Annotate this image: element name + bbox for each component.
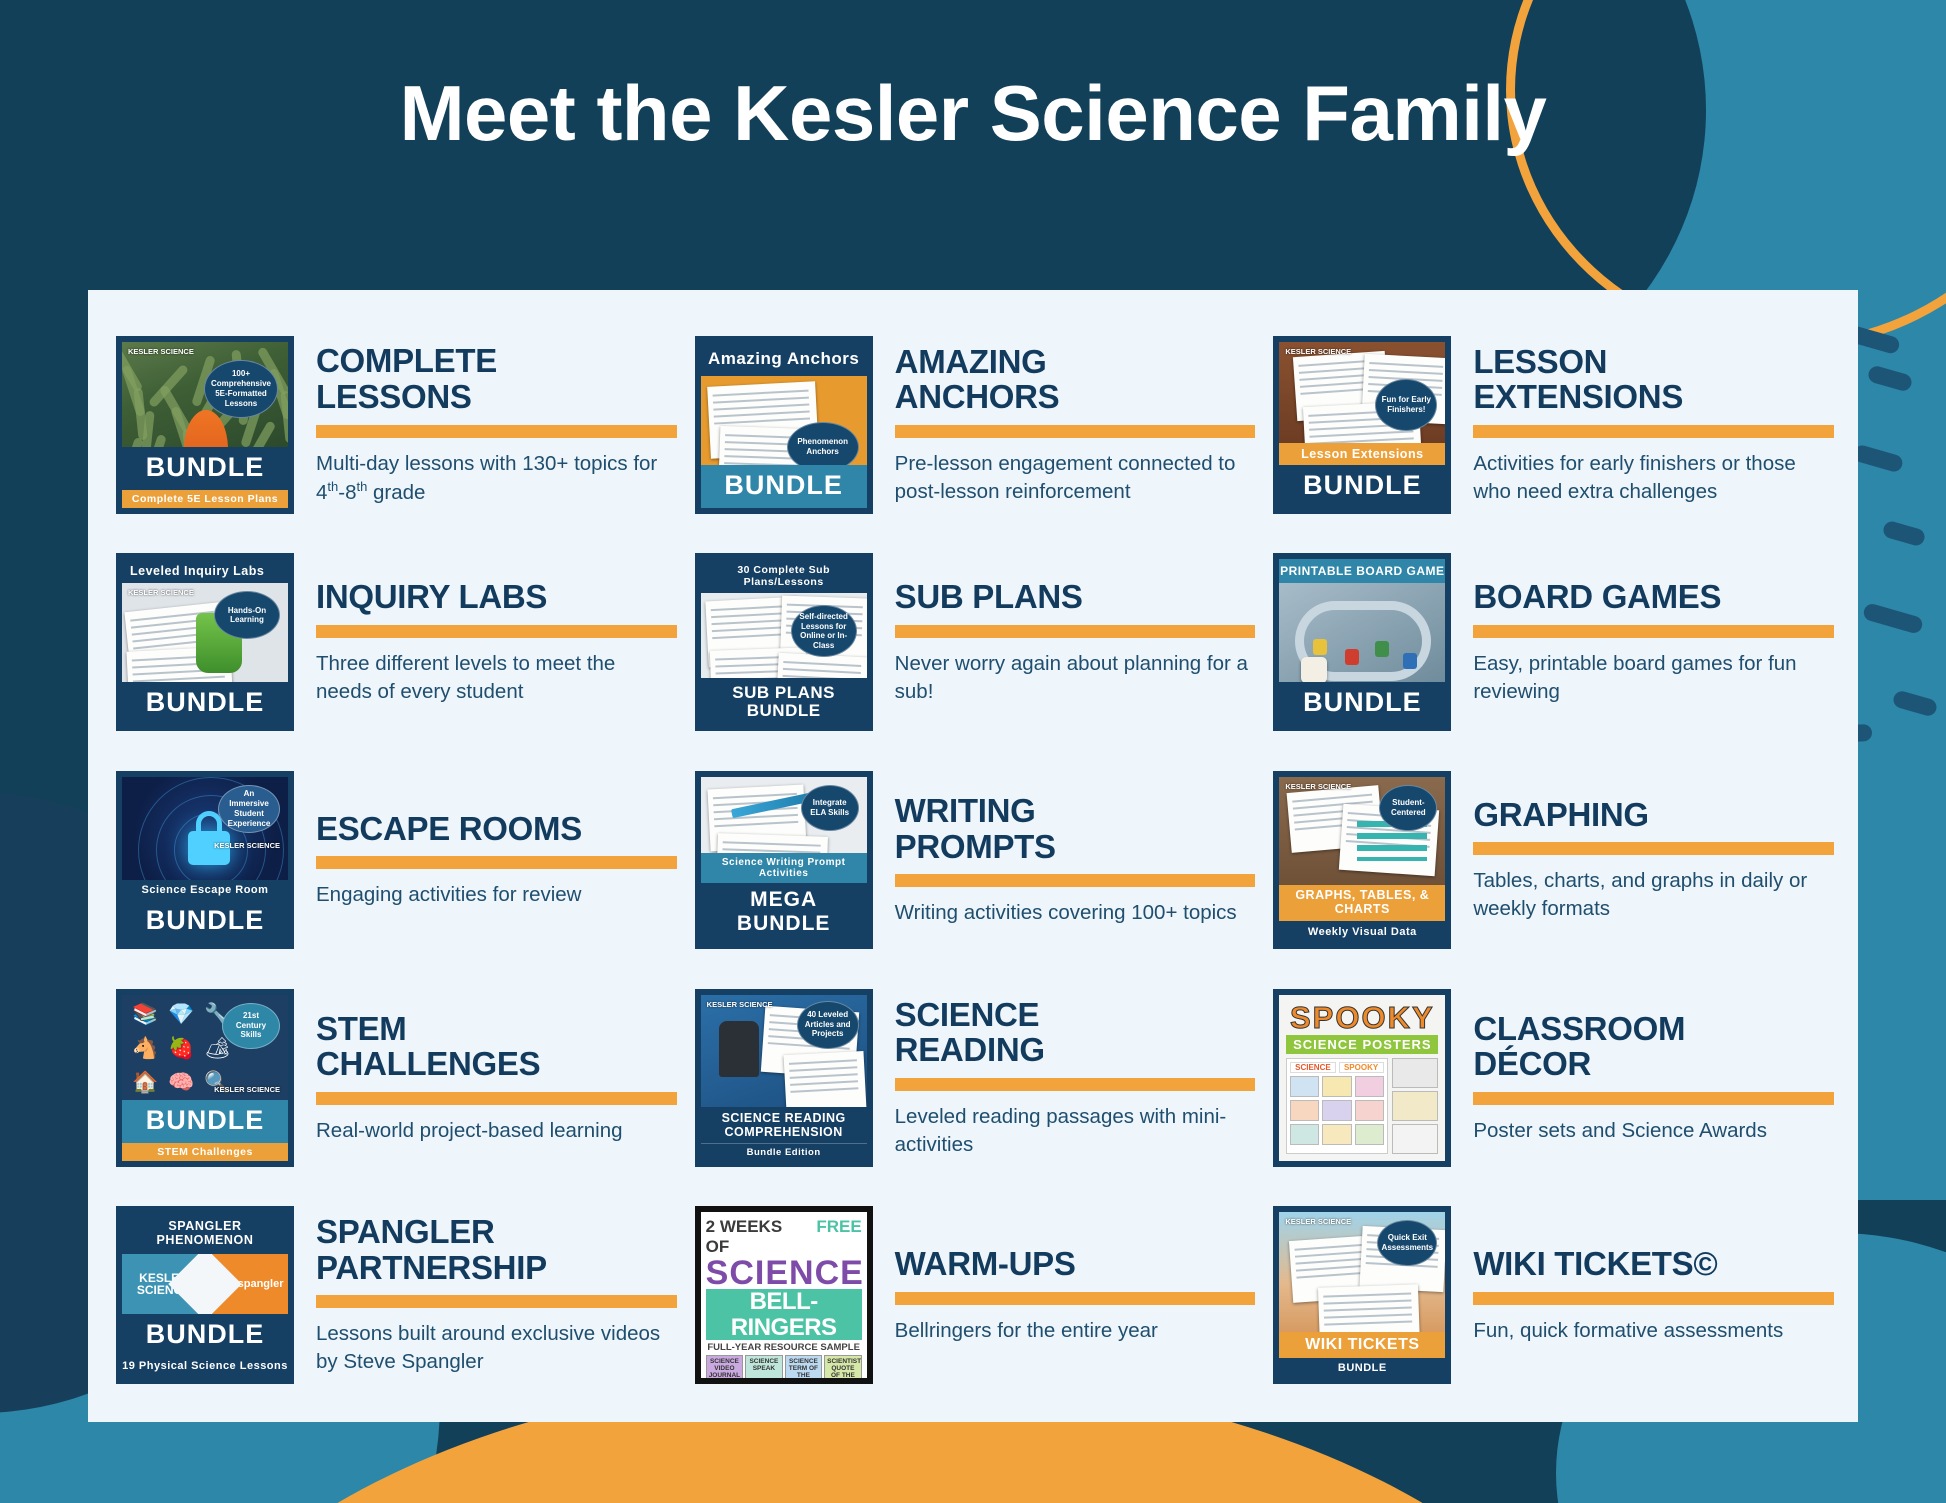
- product-description: Real-world project-based learning: [316, 1117, 677, 1145]
- product-description: Lessons built around exclusive videos by…: [316, 1320, 677, 1376]
- product-thumbnail: PRINTABLE BOARD GAMEBUNDLE: [1273, 553, 1451, 731]
- product-thumbnail: KESLER SCIENCEFun for Early Finishers!Le…: [1273, 336, 1451, 514]
- product-heading-line1: STEM: [316, 1011, 677, 1047]
- thumbnail-photo: Self-directed Lessons for Online or In-C…: [701, 593, 867, 677]
- stem-icon: 🍓: [168, 1037, 194, 1061]
- mini-poster-grid: [1290, 1076, 1383, 1145]
- product-thumbnail: 30 Complete Sub Plans/LessonsSelf-direct…: [695, 553, 873, 731]
- accent-rule: [1473, 625, 1834, 638]
- thumbnail-photo: 📚💎🔧🐴🍓🏕🏠🧠🔍21st Century SkillsKESLER SCIEN…: [122, 995, 288, 1100]
- product-description: Bellringers for the entire year: [895, 1317, 1256, 1345]
- product-item-5: PRINTABLE BOARD GAMEBUNDLEBOARD GAMESEas…: [1269, 536, 1834, 750]
- text-line: [790, 1080, 858, 1086]
- accent-rule: [895, 874, 1256, 887]
- thumbnail-photo: KESLER SCIENCE40 Leveled Articles and Pr…: [701, 995, 867, 1107]
- thumbnail-top-title: Leveled Inquiry Labs: [122, 559, 288, 583]
- product-thumbnail: Amazing AnchorsPhenomenon AnchorsBUNDLE: [695, 336, 873, 514]
- thumbnail-photo: [1279, 583, 1445, 682]
- microscope-icon: [719, 1021, 759, 1077]
- text-line: [714, 814, 798, 820]
- text-line: [1295, 1244, 1369, 1251]
- product-text-column: ESCAPE ROOMSEngaging activities for revi…: [316, 811, 677, 910]
- product-grid: KESLER SCIENCE100+ Comprehensive 5E-Form…: [112, 318, 1834, 1402]
- thumbnail-badge: Self-directed Lessons for Online or In-C…: [791, 605, 857, 657]
- warmups-free: FREE: [816, 1217, 861, 1237]
- kesler-science-logo: KESLER SCIENCE: [128, 589, 194, 597]
- product-item-4: 30 Complete Sub Plans/LessonsSelf-direct…: [691, 536, 1256, 750]
- bundle-label: BUNDLE: [122, 1314, 288, 1357]
- product-heading: WARM-UPS: [895, 1246, 1256, 1282]
- product-item-10: KESLER SCIENCE40 Leveled Articles and Pr…: [691, 971, 1256, 1185]
- kesler-science-logo: KESLER SCIENCE: [214, 842, 280, 850]
- product-heading: STEMCHALLENGES: [316, 1011, 677, 1082]
- product-heading-line1: WARM-UPS: [895, 1246, 1256, 1282]
- accent-rule: [316, 625, 677, 638]
- product-heading-line2: DÉCOR: [1473, 1046, 1834, 1082]
- product-text-column: SPANGLERPARTNERSHIPLessons built around …: [316, 1214, 677, 1376]
- product-thumbnail: Integrate ELA SkillsScience Writing Prom…: [695, 771, 873, 949]
- product-thumbnail: KESLER SCIENCE40 Leveled Articles and Pr…: [695, 989, 873, 1167]
- product-heading: ESCAPE ROOMS: [316, 811, 677, 847]
- text-line: [782, 675, 860, 677]
- text-line: [1370, 362, 1444, 368]
- product-item-13: 2 WEEKS OFFREESCIENCEBELL-RINGERSFULL-YE…: [691, 1188, 1256, 1402]
- text-line: [711, 612, 791, 618]
- text-line: [1310, 437, 1414, 443]
- product-item-11: SPOOKYSCIENCE POSTERSSCIENCESPOOKYCLASSR…: [1269, 971, 1834, 1185]
- thumbnail-container[interactable]: 30 Complete Sub Plans/LessonsSelf-direct…: [691, 553, 877, 731]
- product-thumbnail: An Immersive Student ExperienceKESLER SC…: [116, 771, 294, 949]
- text-line: [711, 619, 791, 625]
- mini-poster: [1290, 1100, 1319, 1121]
- thumbnail-top-title: PRINTABLE BOARD GAME: [1279, 559, 1445, 583]
- text-line: [712, 626, 792, 632]
- product-item-7: Integrate ELA SkillsScience Writing Prom…: [691, 753, 1256, 967]
- thumbnail-container[interactable]: KESLER SCIENCE100+ Comprehensive 5E-Form…: [112, 336, 298, 514]
- text-line: [790, 1087, 858, 1093]
- thumbnail-photo: KESLER SCIENCEStudent-Centered: [1279, 777, 1445, 886]
- thumbnail-badge: Integrate ELA Skills: [801, 785, 859, 831]
- bundle-label: BUNDLE: [122, 900, 288, 943]
- product-description: Never worry again about planning for a s…: [895, 650, 1256, 706]
- thumbnail-sublabel: 19 Physical Science Lessons: [122, 1357, 288, 1378]
- kesler-science-logo: KESLER SCIENCE: [1285, 1218, 1351, 1226]
- stem-icon: 🏠: [132, 1071, 158, 1095]
- product-thumbnail: KESLER SCIENCEStudent-CenteredGRAPHS, TA…: [1273, 771, 1451, 949]
- thumbnail-container[interactable]: Amazing AnchorsPhenomenon AnchorsBUNDLE: [691, 336, 877, 514]
- text-line: [1324, 1307, 1412, 1312]
- product-item-14: KESLER SCIENCEQuick Exit AssessmentsWIKI…: [1269, 1188, 1834, 1402]
- text-line: [1295, 1251, 1369, 1258]
- thumbnail-container[interactable]: KESLER SCIENCEQuick Exit AssessmentsWIKI…: [1269, 1206, 1455, 1384]
- game-piece: [1403, 653, 1417, 669]
- product-description: Multi-day lessons with 130+ topics for 4…: [316, 450, 677, 507]
- warmups-bellringers: BELL-RINGERS: [706, 1289, 862, 1339]
- product-item-6: An Immersive Student ExperienceKESLER SC…: [112, 753, 677, 967]
- thumbnail-badge: 40 Leveled Articles and Projects: [797, 1001, 859, 1049]
- text-line: [1324, 1314, 1412, 1319]
- thumbnail-sublabel: Complete 5E Lesson Plans: [122, 490, 288, 508]
- product-heading-line2: CHALLENGES: [316, 1046, 677, 1082]
- product-heading-line2: LESSONS: [316, 379, 677, 415]
- text-line: [783, 661, 861, 667]
- thumbnail-container[interactable]: Integrate ELA SkillsScience Writing Prom…: [691, 771, 877, 949]
- product-item-0: KESLER SCIENCE100+ Comprehensive 5E-Form…: [112, 318, 677, 532]
- thumbnail-photo: KESLER SCIENCEHands-On Learning: [122, 583, 288, 682]
- thumbnail-container[interactable]: An Immersive Student ExperienceKESLER SC…: [112, 771, 298, 949]
- document-paper: [716, 833, 828, 853]
- bundle-label: BUNDLE: [1279, 465, 1445, 508]
- mini-poster: [1322, 1124, 1351, 1145]
- mini-poster-tall: [1392, 1124, 1439, 1154]
- warmups-2weeks: 2 WEEKS OF: [706, 1217, 811, 1257]
- product-heading-line2: READING: [895, 1032, 1256, 1068]
- product-description: Tables, charts, and graphs in daily or w…: [1473, 867, 1834, 923]
- accent-rule: [316, 856, 677, 869]
- product-text-column: STEMCHALLENGESReal-world project-based l…: [316, 1011, 677, 1145]
- text-line: [1369, 369, 1443, 375]
- product-heading-line1: INQUIRY LABS: [316, 579, 677, 615]
- text-line: [1296, 1265, 1370, 1272]
- product-item-3: Leveled Inquiry LabsKESLER SCIENCEHands-…: [112, 536, 677, 750]
- kesler-science-logo: KESLER SCIENCE: [1285, 348, 1351, 356]
- game-piece: [1345, 649, 1359, 665]
- thumbnail-photo: Phenomenon Anchors: [701, 376, 867, 465]
- thumbnail-strip-label: Science Escape Room: [122, 880, 288, 900]
- product-text-column: SUB PLANSNever worry again about plannin…: [895, 579, 1256, 705]
- accent-rule: [1473, 1092, 1834, 1105]
- thumbnail-container[interactable]: 2 WEEKS OFFREESCIENCEBELL-RINGERSFULL-YE…: [691, 1206, 877, 1384]
- product-heading-line1: AMAZING: [895, 344, 1256, 380]
- stem-icon: 🐴: [132, 1037, 158, 1061]
- product-text-column: CLASSROOMDÉCORPoster sets and Science Aw…: [1473, 1011, 1834, 1145]
- text-line: [789, 1059, 857, 1065]
- product-text-column: GRAPHINGTables, charts, and graphs in da…: [1473, 797, 1834, 923]
- product-heading-line1: COMPLETE: [316, 343, 677, 379]
- text-line: [789, 1066, 857, 1072]
- thumbnail-strip-label: GRAPHS, TABLES, & CHARTS: [1279, 885, 1445, 921]
- product-heading: SUB PLANS: [895, 579, 1256, 615]
- warmups-subtitle: FULL-YEAR RESOURCE SAMPLE: [706, 1340, 862, 1355]
- thumbnail-container[interactable]: KESLER SCIENCEFun for Early Finishers!Le…: [1269, 336, 1455, 514]
- accent-rule: [316, 1295, 677, 1308]
- warmups-line1: 2 WEEKS OFFREE: [706, 1217, 862, 1257]
- dice: [1301, 657, 1327, 682]
- product-description: Writing activities covering 100+ topics: [895, 899, 1256, 927]
- mini-poster: [1290, 1076, 1319, 1097]
- warmups-tile: SCIENCE TERM OF THE WEEK: [785, 1355, 823, 1384]
- product-heading-line2: PROMPTS: [895, 829, 1256, 865]
- mini-poster-tall: [1392, 1058, 1439, 1088]
- product-thumbnail: SPOOKYSCIENCE POSTERSSCIENCESPOOKY: [1273, 989, 1451, 1167]
- text-line: [714, 821, 798, 827]
- product-description: Pre-lesson engagement connected to post-…: [895, 450, 1256, 506]
- warmups-science: SCIENCE: [706, 1257, 862, 1289]
- product-heading-line1: SCIENCE: [895, 997, 1256, 1033]
- product-heading: COMPLETELESSONS: [316, 343, 677, 414]
- thumbnail-container[interactable]: SPOOKYSCIENCE POSTERSSCIENCESPOOKY: [1269, 989, 1455, 1167]
- mini-poster: [1322, 1100, 1351, 1121]
- kesler-science-logo: KESLER SCIENCE: [707, 1001, 773, 1009]
- bundle-label: BUNDLE: [122, 447, 288, 490]
- product-thumbnail: 2 WEEKS OFFREESCIENCEBELL-RINGERSFULL-YE…: [695, 1206, 873, 1384]
- thumbnail-container[interactable]: KESLER SCIENCE40 Leveled Articles and Pr…: [691, 989, 877, 1167]
- product-thumbnail: 📚💎🔧🐴🍓🏕🏠🧠🔍21st Century SkillsKESLER SCIEN…: [116, 989, 294, 1167]
- thumbnail-photo: KESLER SCIENCE100+ Comprehensive 5E-Form…: [122, 342, 288, 447]
- text-line: [1324, 1293, 1412, 1298]
- text-line: [712, 389, 808, 396]
- mini-poster: [1290, 1124, 1319, 1145]
- poster-grid-area: SCIENCESPOOKY: [1286, 1058, 1438, 1154]
- thumbnail-sublabel: BUNDLE: [1279, 1358, 1445, 1378]
- product-heading: LESSONEXTENSIONS: [1473, 344, 1834, 415]
- kesler-science-logo: KESLER SCIENCE: [214, 1086, 280, 1094]
- product-thumbnail: Leveled Inquiry LabsKESLER SCIENCEHands-…: [116, 553, 294, 731]
- product-description: Poster sets and Science Awards: [1473, 1117, 1834, 1145]
- bundle-label: SUB PLANS BUNDLE: [701, 678, 867, 726]
- product-heading-line1: LESSON: [1473, 344, 1834, 380]
- product-thumbnail: KESLER SCIENCE100+ Comprehensive 5E-Form…: [116, 336, 294, 514]
- page-title: Meet the Kesler Science Family: [0, 68, 1946, 159]
- product-text-column: WRITINGPROMPTSWriting activities coverin…: [895, 793, 1256, 927]
- product-text-column: INQUIRY LABSThree different levels to me…: [316, 579, 677, 705]
- product-heading-line1: GRAPHING: [1473, 797, 1834, 833]
- product-heading-line2: EXTENSIONS: [1473, 379, 1834, 415]
- thumbnail-badge: Hands-On Learning: [214, 591, 280, 639]
- product-text-column: WARM-UPSBellringers for the entire year: [895, 1246, 1256, 1345]
- stem-icon: 📚: [132, 1003, 158, 1027]
- product-heading-line1: SPANGLER: [316, 1214, 677, 1250]
- bundle-label: BUNDLE: [122, 1100, 288, 1143]
- text-line: [713, 410, 809, 417]
- thumbnail-photo: KESLER SCIENCEQuick Exit Assessments: [1279, 1212, 1445, 1332]
- product-heading: WRITINGPROMPTS: [895, 793, 1256, 864]
- thumbnail-sublabel: Bundle Edition: [701, 1143, 867, 1161]
- product-heading-line1: SUB PLANS: [895, 579, 1256, 615]
- thumbnail-container[interactable]: 📚💎🔧🐴🍓🏕🏠🧠🔍21st Century SkillsKESLER SCIEN…: [112, 989, 298, 1167]
- dash-decoration: [1881, 520, 1926, 548]
- thumbnail-strip-label: Science Writing Prompt Activities: [701, 853, 867, 883]
- thumbnail-strip-label: Lesson Extensions: [1279, 443, 1445, 465]
- thumbnail-badge: 21st Century Skills: [222, 1003, 280, 1049]
- product-description: Activities for early finishers or those …: [1473, 450, 1834, 506]
- mini-poster: [1322, 1076, 1351, 1097]
- text-line: [710, 605, 790, 611]
- stem-icon: 🧠: [168, 1071, 194, 1095]
- mini-poster-tall: [1392, 1091, 1439, 1121]
- mini-poster: [1355, 1100, 1384, 1121]
- thumbnail-container[interactable]: PRINTABLE BOARD GAMEBUNDLE: [1269, 553, 1455, 731]
- mini-poster: [1355, 1124, 1384, 1145]
- accent-rule: [895, 1292, 1256, 1305]
- accent-rule: [895, 425, 1256, 438]
- thumbnail-top-title: SPANGLER PHENOMENON: [122, 1212, 288, 1254]
- thumbnail-photo: KESLER SCIENCEstevespangler: [122, 1254, 288, 1314]
- thumbnail-container[interactable]: SPANGLER PHENOMENONKESLER SCIENCEstevesp…: [112, 1206, 298, 1384]
- thumbnail-sublabel: STEM Challenges: [122, 1143, 288, 1161]
- product-text-column: WIKI TICKETS©Fun, quick formative assess…: [1473, 1246, 1834, 1345]
- warmups-tile: SCIENCE SPEAK: [745, 1355, 783, 1384]
- game-piece: [1313, 639, 1327, 655]
- product-item-1: Amazing AnchorsPhenomenon AnchorsBUNDLEA…: [691, 318, 1256, 532]
- mini-poster: [1355, 1076, 1384, 1097]
- product-item-8: KESLER SCIENCEStudent-CenteredGRAPHS, TA…: [1269, 753, 1834, 967]
- product-heading: SPANGLERPARTNERSHIP: [316, 1214, 677, 1285]
- product-heading-line1: WRITING: [895, 793, 1256, 829]
- thumbnail-photo: KESLER SCIENCEFun for Early Finishers!: [1279, 342, 1445, 443]
- accent-rule: [1473, 1292, 1834, 1305]
- product-thumbnail: KESLER SCIENCEQuick Exit AssessmentsWIKI…: [1273, 1206, 1451, 1384]
- warmups-tile: SCIENTIST QUOTE OF THE WEEK: [824, 1355, 862, 1384]
- product-item-2: KESLER SCIENCEFun for Early Finishers!Le…: [1269, 318, 1834, 532]
- bundle-label: MEGA BUNDLE: [701, 883, 867, 943]
- document-paper: [1318, 1284, 1420, 1332]
- accent-rule: [1473, 425, 1834, 438]
- thumbnail-sublabel: Weekly Visual Data: [1279, 921, 1445, 943]
- thumbnail-top-title: Amazing Anchors: [701, 342, 867, 376]
- thumbnail-badge: Phenomenon Anchors: [787, 422, 859, 465]
- thumbnail-photo: An Immersive Student ExperienceKESLER SC…: [122, 777, 288, 880]
- warmups-tile-grid: SCIENCE VIDEO JOURNALSCIENCE SPEAKSCIENC…: [706, 1355, 862, 1384]
- anemone-tentacle: [280, 390, 288, 443]
- bundle-label: BUNDLE: [701, 465, 867, 508]
- product-heading: WIKI TICKETS©: [1473, 1246, 1834, 1282]
- accent-rule: [895, 1078, 1256, 1091]
- product-heading-line1: BOARD GAMES: [1473, 579, 1834, 615]
- spooky-title: SPOOKY: [1286, 1002, 1438, 1033]
- product-description: Three different levels to meet the needs…: [316, 650, 677, 706]
- product-heading: GRAPHING: [1473, 797, 1834, 833]
- product-text-column: AMAZINGANCHORSPre-lesson engagement conn…: [895, 344, 1256, 506]
- dash-decoration: [1892, 689, 1939, 717]
- product-description: Easy, printable board games for fun revi…: [1473, 650, 1834, 706]
- bundle-label: BUNDLE: [122, 682, 288, 725]
- kesler-science-logo: KESLER SCIENCE: [1285, 783, 1351, 791]
- stem-icon: 💎: [168, 1003, 194, 1027]
- document-paper: [783, 1051, 866, 1107]
- pill-science: SCIENCE: [1290, 1062, 1335, 1073]
- product-heading: INQUIRY LABS: [316, 579, 677, 615]
- product-text-column: BOARD GAMESEasy, printable board games f…: [1473, 579, 1834, 705]
- thumbnail-badge: 100+ Comprehensive 5E-Formatted Lessons: [204, 360, 278, 418]
- thumbnail-strip-label: SCIENCE READING COMPREHENSION: [701, 1107, 867, 1143]
- product-heading-line2: ANCHORS: [895, 379, 1256, 415]
- accent-rule: [316, 1092, 677, 1105]
- accent-rule: [316, 425, 677, 438]
- text-line: [1310, 430, 1414, 437]
- text-line: [713, 403, 809, 410]
- text-line: [722, 841, 820, 846]
- product-heading-line1: CLASSROOM: [1473, 1011, 1834, 1047]
- thumbnail-badge: An Immersive Student Experience: [218, 785, 280, 833]
- product-text-column: LESSONEXTENSIONSActivities for early fin…: [1473, 344, 1834, 506]
- thumbnail-container[interactable]: KESLER SCIENCEStudent-CenteredGRAPHS, TA…: [1269, 771, 1455, 949]
- product-thumbnail: SPANGLER PHENOMENONKESLER SCIENCEstevesp…: [116, 1206, 294, 1384]
- text-line: [133, 676, 225, 682]
- dash-decoration: [1867, 364, 1914, 392]
- dash-decoration: [1852, 443, 1905, 473]
- thumbnail-photo: Integrate ELA Skills: [701, 777, 867, 853]
- product-heading-line1: WIKI TICKETS©: [1473, 1246, 1834, 1282]
- kesler-science-logo: KESLER SCIENCE: [128, 348, 194, 356]
- product-description: Leveled reading passages with mini-activ…: [895, 1103, 1256, 1159]
- text-line: [789, 1073, 857, 1079]
- text-line: [722, 848, 820, 853]
- product-heading: SCIENCEREADING: [895, 997, 1256, 1068]
- science-spooky-pill: SCIENCESPOOKY: [1290, 1062, 1383, 1073]
- game-piece: [1375, 641, 1389, 657]
- product-description: Engaging activities for review: [316, 881, 677, 909]
- accent-rule: [1473, 842, 1834, 855]
- bundle-label: BUNDLE: [1279, 682, 1445, 725]
- poster-grid-left: SCIENCESPOOKY: [1286, 1058, 1387, 1154]
- dash-decoration: [1862, 602, 1924, 635]
- thumbnail-strip-label: WIKI TICKETS: [1279, 1332, 1445, 1358]
- spooky-subtitle: SCIENCE POSTERS: [1286, 1035, 1438, 1054]
- anemone-tentacle: [122, 437, 144, 447]
- text-line: [1296, 1258, 1370, 1265]
- warmups-tile: SCIENCE VIDEO JOURNAL: [706, 1355, 744, 1384]
- product-heading: AMAZINGANCHORS: [895, 344, 1256, 415]
- product-description: Fun, quick formative assessments: [1473, 1317, 1834, 1345]
- thumbnail-top-title: 30 Complete Sub Plans/Lessons: [701, 559, 867, 593]
- product-card-panel: KESLER SCIENCE100+ Comprehensive 5E-Form…: [88, 290, 1858, 1422]
- thumbnail-container[interactable]: Leveled Inquiry LabsKESLER SCIENCEHands-…: [112, 553, 298, 731]
- text-line: [1325, 1321, 1413, 1326]
- thumbnail-badge: Fun for Early Finishers!: [1375, 379, 1437, 431]
- product-item-12: SPANGLER PHENOMENONKESLER SCIENCEstevesp…: [112, 1188, 677, 1402]
- product-heading-line2: PARTNERSHIP: [316, 1250, 677, 1286]
- text-line: [714, 417, 810, 424]
- pill-spooky: SPOOKY: [1339, 1062, 1384, 1073]
- text-line: [1324, 1300, 1412, 1305]
- product-text-column: COMPLETELESSONSMulti-day lessons with 13…: [316, 343, 677, 506]
- product-heading: CLASSROOMDÉCOR: [1473, 1011, 1834, 1082]
- product-heading-line1: ESCAPE ROOMS: [316, 811, 677, 847]
- poster-grid-right: [1392, 1058, 1439, 1154]
- product-text-column: SCIENCEREADINGLeveled reading passages w…: [895, 997, 1256, 1159]
- accent-rule: [895, 625, 1256, 638]
- text-line: [713, 396, 809, 403]
- product-heading: BOARD GAMES: [1473, 579, 1834, 615]
- product-item-9: 📚💎🔧🐴🍓🏕🏠🧠🔍21st Century SkillsKESLER SCIEN…: [112, 971, 677, 1185]
- thumbnail-badge: Student-Centered: [1379, 785, 1437, 831]
- text-line: [783, 668, 861, 674]
